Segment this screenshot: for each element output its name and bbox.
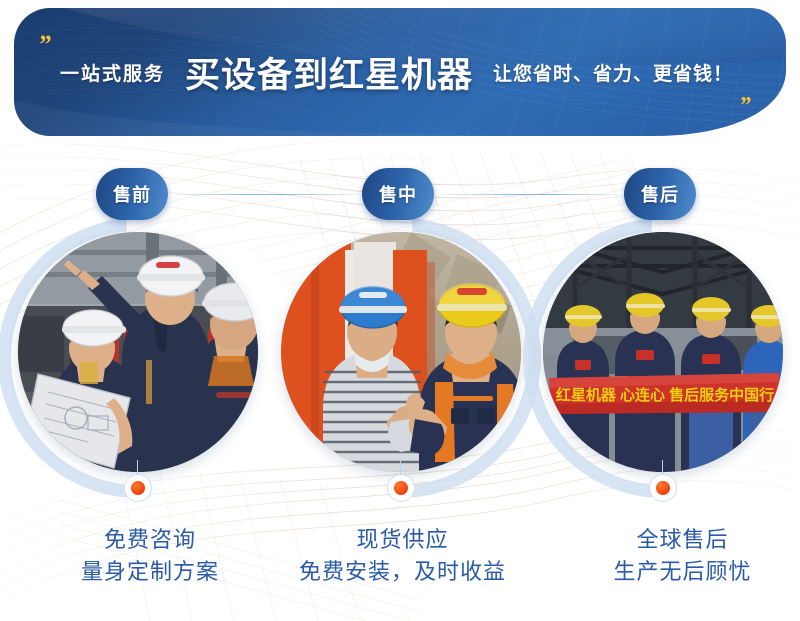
caption-after-sale: 全球售后 生产无后顾忧 bbox=[575, 524, 790, 588]
caption-line-2: 生产无后顾忧 bbox=[575, 556, 790, 588]
header-subtitle-left: 一站式服务 bbox=[60, 59, 165, 86]
connector-dot-row bbox=[0, 466, 800, 516]
after-sale-service-photo: 红星机器 心连心 售后服务中国行 bbox=[543, 232, 783, 472]
stage-pill-in-sale[interactable]: 售中 bbox=[362, 168, 434, 220]
dot-stem-line bbox=[137, 460, 138, 474]
caption-line-2: 量身定制方案 bbox=[40, 556, 260, 588]
stage-pill-after-sale[interactable]: 售后 bbox=[624, 168, 696, 220]
stage-pill-label: 售后 bbox=[641, 181, 679, 207]
stage-connector-line-1 bbox=[176, 194, 356, 195]
stage-connector-line-2 bbox=[442, 194, 620, 195]
dot-core-icon bbox=[394, 481, 408, 495]
pre-sale-consultation-photo bbox=[18, 232, 258, 472]
caption-in-sale: 现货供应 免费安装，及时收益 bbox=[285, 524, 520, 588]
photo-wrap-pre-sale bbox=[18, 232, 258, 472]
connector-dot-in-sale bbox=[381, 466, 421, 516]
caption-line-2: 免费安装，及时收益 bbox=[285, 556, 520, 588]
photo-wrap-after-sale: 红星机器 心连心 售后服务中国行 bbox=[543, 232, 783, 472]
stage-pill-label: 售中 bbox=[379, 181, 417, 207]
dot-core-icon bbox=[656, 481, 670, 495]
photo-circle-row: 红星机器 心连心 售后服务中国行 bbox=[0, 232, 800, 482]
in-sale-supply-photo bbox=[281, 232, 521, 472]
caption-line-1: 免费咨询 bbox=[40, 524, 260, 556]
connector-dot-pre-sale bbox=[118, 466, 158, 516]
dot-core-icon bbox=[131, 481, 145, 495]
dot-stem-line bbox=[400, 460, 401, 474]
caption-pre-sale: 免费咨询 量身定制方案 bbox=[40, 524, 260, 588]
stage-indicator-row: 售前 售中 售后 bbox=[0, 168, 800, 224]
dot-stem-line bbox=[662, 460, 663, 474]
caption-row: 免费咨询 量身定制方案 现货供应 免费安装，及时收益 全球售后 生产无后顾忧 bbox=[0, 524, 800, 614]
photo-wrap-in-sale bbox=[281, 232, 521, 472]
caption-line-1: 现货供应 bbox=[285, 524, 520, 556]
caption-line-1: 全球售后 bbox=[575, 524, 790, 556]
header-main-title: 买设备到红星机器 bbox=[185, 47, 473, 98]
connector-dot-after-sale bbox=[643, 466, 683, 516]
stage-pill-label: 售前 bbox=[113, 181, 151, 207]
stage-pill-pre-sale[interactable]: 售前 bbox=[96, 168, 168, 220]
header-banner: ” ” 一站式服务 买设备到红星机器 让您省时、省力、更省钱！ bbox=[14, 8, 786, 136]
header-subtitle-right: 让您省时、省力、更省钱！ bbox=[493, 59, 733, 86]
